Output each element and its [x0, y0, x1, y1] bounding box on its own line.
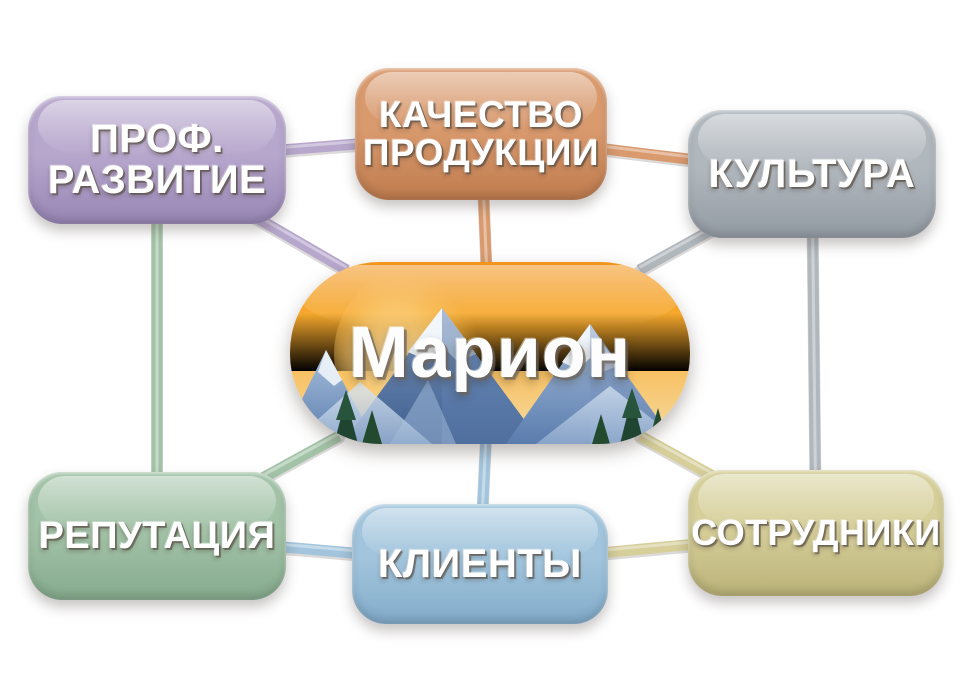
node-kultura[interactable]: КУЛЬТУРА [688, 110, 936, 238]
node-sotrudniki[interactable]: СОТРУДНИКИ [688, 470, 944, 596]
node-klienty[interactable]: КЛИЕНТЫ [352, 504, 608, 624]
node-label-sotrudniki: СОТРУДНИКИ [691, 515, 941, 552]
edge-reputaciya-to-klienty [278, 544, 360, 556]
node-label-prof-razvitie: ПРОФ. РАЗВИТИЕ [48, 119, 267, 201]
edge-kachestvo-to-center [483, 190, 486, 273]
diagram-canvas: ПРОФ. РАЗВИТИЕКАЧЕСТВО ПРОДУКЦИИКУЛЬТУРА… [0, 0, 960, 675]
edge-klienty-to-center [482, 434, 486, 515]
node-label-klienty: КЛИЕНТЫ [378, 544, 582, 585]
node-label-kultura: КУЛЬТУРА [709, 154, 916, 195]
node-label-reputaciya: РЕПУТАЦИЯ [39, 517, 276, 556]
edge-prof-to-kachestvo [278, 141, 363, 152]
center-node-label: Марион [349, 312, 632, 394]
node-label-kachestvo-produkcii: КАЧЕСТВО ПРОДУКЦИИ [363, 96, 599, 171]
edge-kachestvo-to-kultura [599, 146, 696, 162]
node-prof-razvitie[interactable]: ПРОФ. РАЗВИТИЕ [28, 96, 286, 224]
node-kachestvo-produkcii[interactable]: КАЧЕСТВО ПРОДУКЦИИ [355, 68, 607, 200]
center-node[interactable]: Марион [290, 262, 690, 444]
node-reputaciya[interactable]: РЕПУТАЦИЯ [28, 472, 286, 600]
edge-kultura-to-sotrudniki [813, 228, 816, 481]
edge-klienty-to-sotrudniki [600, 542, 696, 555]
